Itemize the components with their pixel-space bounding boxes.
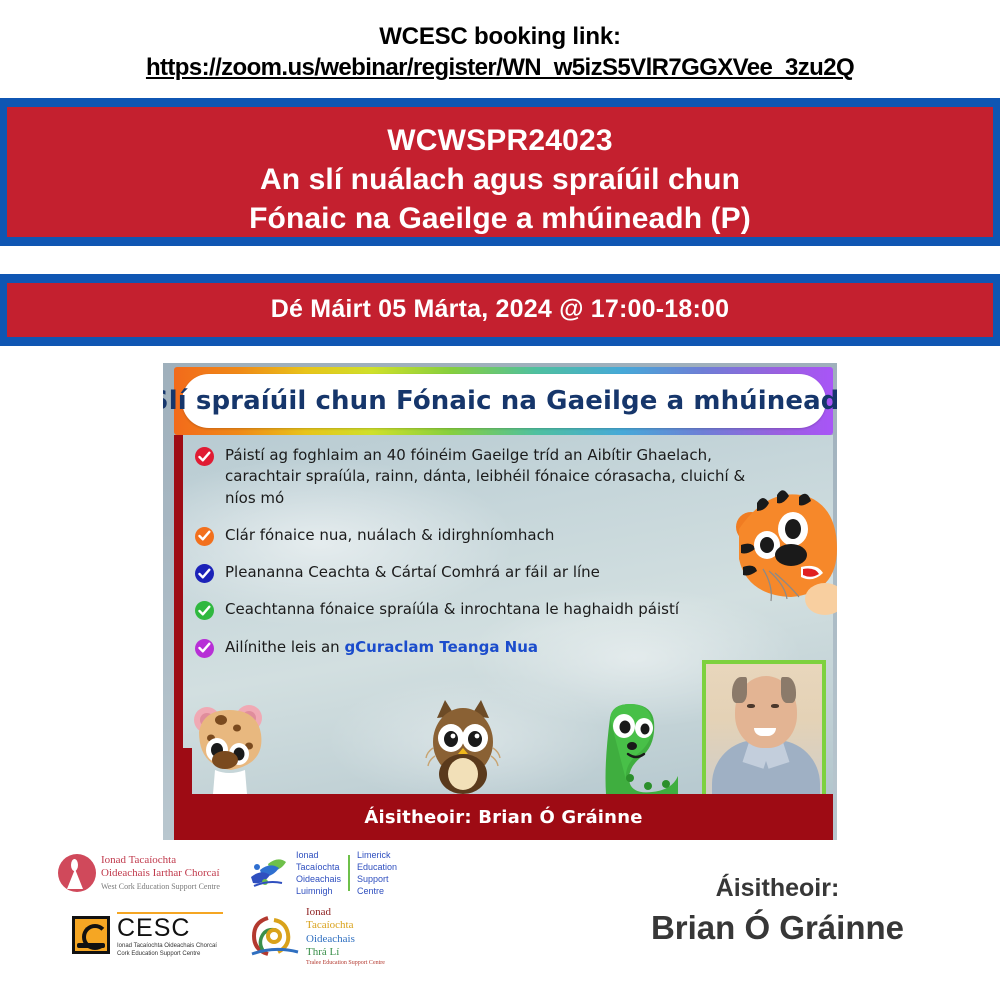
list-item: Pleananna Ceachta & Cártaí Comhrá ar fái…	[195, 562, 823, 583]
booking-link-url[interactable]: https://zoom.us/webinar/register/WN_w5iz…	[146, 53, 854, 82]
wcesc-line-3: West Cork Education Support Centre	[101, 882, 220, 893]
cesc-spiral-icon	[72, 916, 110, 954]
limerick-english-line-2: Education	[357, 861, 397, 873]
check-circle-icon	[195, 601, 214, 620]
date-banner: Dé Máirt 05 Márta, 2024 @ 17:00-18:00	[0, 274, 1000, 346]
facilitator-label: Áisitheoir:	[651, 873, 904, 904]
list-item-text-plain: Ailínithe leis an	[225, 638, 344, 656]
west-cork-education-support-centre-logo: Ionad Tacaíochta Oideachais Iarthar Chor…	[56, 844, 242, 902]
course-title-line-1: An slí nuálach agus spraíúil chun	[7, 160, 993, 199]
list-item-text: Páistí ag foghlaim an 40 fóinéim Gaeilge…	[225, 445, 770, 509]
list-item-highlight: gCuraclam Teanga Nua	[344, 638, 538, 656]
booking-link-block: WCESC booking link: https://zoom.us/webi…	[0, 0, 1000, 83]
partner-logos: Ionad Tacaíochta Oideachais Iarthar Chor…	[56, 844, 416, 970]
limerick-irish-line-1: Ionad	[296, 849, 341, 861]
slide-title-text: Slí spraíúil chun Fónaic na Gaeilge a mh…	[163, 386, 837, 416]
check-circle-icon	[195, 639, 214, 658]
slide-left-accent-bar	[174, 435, 183, 794]
tralee-mark-icon	[248, 912, 302, 962]
list-item: Ceachtanna fónaice spraíúla & inrochtana…	[195, 599, 823, 620]
slide-bullet-list: Páistí ag foghlaim an 40 fóinéim Gaeilge…	[195, 445, 823, 671]
facilitator-name: Brian Ó Gráinne	[651, 907, 904, 948]
leopard-icon	[191, 698, 275, 794]
course-slide-image: Slí spraíúil chun Fónaic na Gaeilge a mh…	[163, 363, 837, 840]
list-item: Páistí ag foghlaim an 40 fóinéim Gaeilge…	[195, 445, 823, 509]
limerick-mark-icon	[248, 856, 290, 890]
list-item-text: Ceachtanna fónaice spraíúla & inrochtana…	[225, 599, 679, 620]
course-code: WCWSPR24023	[7, 121, 993, 160]
check-circle-icon	[195, 527, 214, 546]
slide-title-pill: Slí spraíúil chun Fónaic na Gaeilge a mh…	[182, 374, 826, 428]
cork-education-support-centre-logo: CESC Ionad Tacaíochta Oideachais Chorcaí…	[56, 908, 242, 962]
facilitator-block: Áisitheoir: Brian Ó Gráinne	[651, 873, 904, 949]
list-item: Clár fónaice nua, nuálach & idirghníomha…	[195, 525, 823, 546]
slide-facilitator-text: Áisitheoir: Brian Ó Gráinne	[364, 807, 642, 828]
course-title-line-2: Fónaic na Gaeilge a mhúineadh (P)	[7, 199, 993, 238]
limerick-irish-line-3: Oideachais	[296, 873, 341, 885]
limerick-logo-divider	[348, 855, 350, 891]
wcesc-line-1: Ionad Tacaíochta	[101, 854, 220, 867]
limerick-english-line-1: Limerick	[357, 849, 397, 861]
wcesc-mark-icon	[58, 854, 96, 892]
slide-footer-bar: Áisitheoir: Brian Ó Gráinne	[174, 794, 833, 840]
owl-icon	[425, 696, 501, 794]
check-circle-icon	[195, 564, 214, 583]
list-item: Ailínithe leis an gCuraclam Teanga Nua	[195, 637, 823, 658]
presenter-eye-left	[747, 704, 755, 708]
check-circle-icon	[195, 447, 214, 466]
presenter-eye-right	[771, 704, 779, 708]
booking-link-label: WCESC booking link:	[0, 22, 1000, 51]
limerick-irish-line-2: Tacaíochta	[296, 861, 341, 873]
tralee-line-5: Tralee Education Support Centre	[306, 960, 385, 968]
cesc-line-2: Cork Education Support Centre	[117, 950, 223, 958]
wcesc-line-2: Oideachais Iarthar Chorcaí	[101, 867, 220, 880]
tralee-line-1: Ionad	[306, 906, 385, 919]
cesc-line-1: Ionad Tacaíochta Oideachais Chorcaí	[117, 942, 223, 950]
tralee-line-3: Oideachais	[306, 933, 385, 946]
limerick-irish-line-4: Luimnigh	[296, 885, 341, 897]
limerick-english-line-3: Support	[357, 873, 397, 885]
limerick-education-support-centre-logo: Ionad Tacaíochta Oideachais Luimnigh Lim…	[248, 844, 416, 902]
snake-icon	[600, 702, 682, 794]
presenter-headshot	[702, 660, 826, 800]
presenter-hair-left	[732, 677, 747, 703]
course-datetime: Dé Máirt 05 Márta, 2024 @ 17:00-18:00	[271, 295, 729, 324]
tralee-line-2: Tacaíochta	[306, 919, 385, 932]
list-item-text: Pleananna Ceachta & Cártaí Comhrá ar fái…	[225, 562, 600, 583]
tralee-education-support-centre-logo: Ionad Tacaíochta Oideachais Thrá Lí Tral…	[248, 904, 416, 970]
tralee-line-4: Thrá Lí	[306, 946, 385, 959]
presenter-hair-right	[781, 677, 796, 703]
list-item-text: Clár fónaice nua, nuálach & idirghníomha…	[225, 525, 554, 546]
limerick-english-line-4: Centre	[357, 885, 397, 897]
list-item-text: Ailínithe leis an gCuraclam Teanga Nua	[225, 637, 538, 658]
course-title-banner: WCWSPR24023 An slí nuálach agus spraíúil…	[0, 98, 1000, 246]
cesc-acronym: CESC	[117, 915, 223, 941]
